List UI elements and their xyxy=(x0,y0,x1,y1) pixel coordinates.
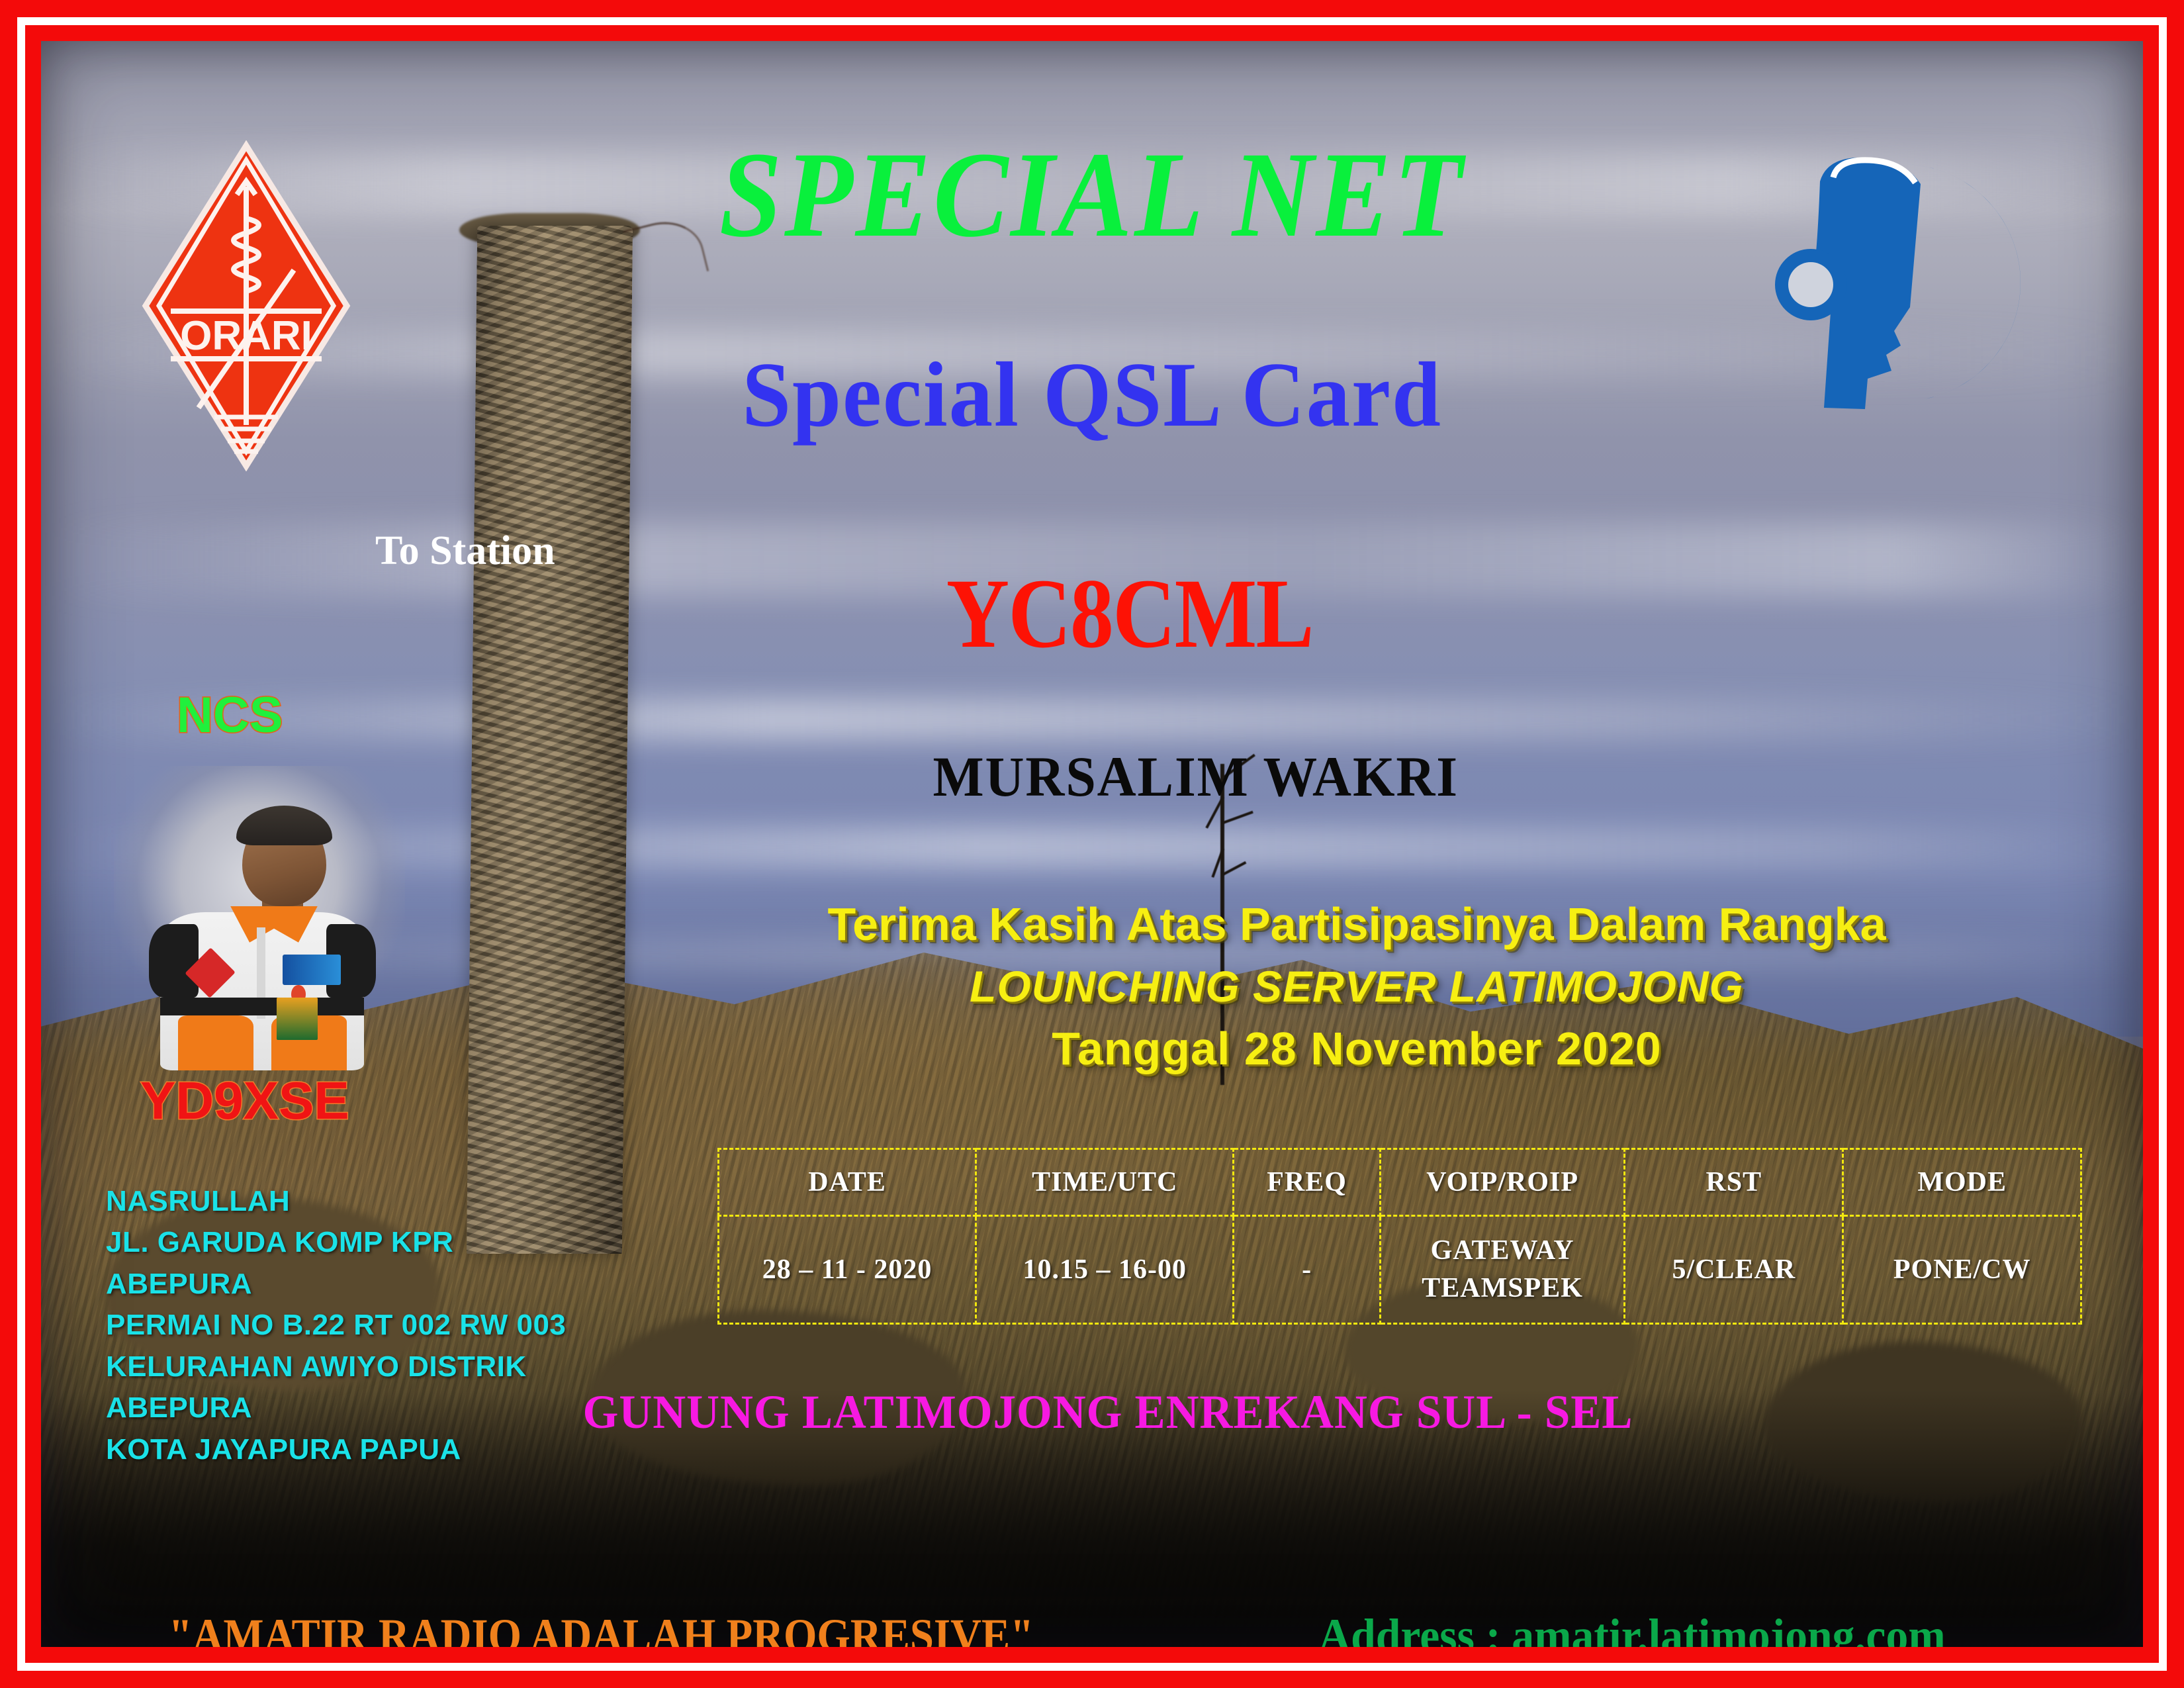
cell-date: 28 – 11 - 2020 xyxy=(719,1216,976,1324)
ncs-callsign: YD9XSE xyxy=(140,1070,349,1131)
card-overlay: ORARI xyxy=(41,41,2143,1647)
qso-log-table: DATE TIME/UTC FREQ VOIP/ROIP RST MODE 28… xyxy=(717,1148,2082,1325)
event-line-2: LOUNCHING SERVER LATIMOJONG xyxy=(690,959,2024,1014)
portrait-id-card xyxy=(277,998,318,1040)
table-header-row: DATE TIME/UTC FREQ VOIP/ROIP RST MODE xyxy=(719,1149,2081,1216)
qsl-card-inner-frame: ORARI xyxy=(25,25,2159,1663)
cell-voip: GATEWAY TEAMSPEK xyxy=(1380,1216,1624,1324)
qsl-card-outer-frame: ORARI xyxy=(0,0,2184,1688)
col-header-mode: MODE xyxy=(1843,1149,2081,1216)
portrait-badge-right xyxy=(283,955,341,985)
portrait-shoulder-left xyxy=(149,924,199,997)
ncs-operator-photo xyxy=(114,766,405,1070)
page-title: SPECIAL NET xyxy=(125,134,2059,256)
cell-voip-line-2: TEAMSPEK xyxy=(1385,1270,1619,1307)
event-text-block: Terima Kasih Atas Partisipasinya Dalam R… xyxy=(690,895,2024,1079)
portrait-hem-left xyxy=(178,1015,253,1070)
cell-voip-line-1: GATEWAY xyxy=(1385,1232,1619,1270)
portrait-stripe xyxy=(160,998,364,1016)
contact-address-block: NASRULLAH JL. GARUDA KOMP KPR ABEPURA PE… xyxy=(106,1181,566,1470)
footer-address: Address : amatir.latimojong.com xyxy=(1318,1609,1945,1647)
col-header-time: TIME/UTC xyxy=(976,1149,1234,1216)
cell-freq: - xyxy=(1234,1216,1381,1324)
table-row: 28 – 11 - 2020 10.15 – 16-00 - GATEWAY T… xyxy=(719,1216,2081,1324)
cell-time: 10.15 – 16-00 xyxy=(976,1216,1234,1324)
qsl-card-white-gap: ORARI xyxy=(17,17,2167,1671)
footer-slogan: "AMATIR RADIO ADALAH PROGRESIVE" xyxy=(169,1609,1034,1647)
background-photograph: ORARI xyxy=(41,41,2143,1647)
contact-line: NASRULLAH xyxy=(106,1181,566,1222)
page-subtitle: Special QSL Card xyxy=(93,349,2090,442)
event-line-3: Tanggal 28 November 2020 xyxy=(690,1019,2024,1079)
contact-line: KELURAHAN AWIYO DISTRIK xyxy=(106,1346,566,1387)
contact-line: PERMAI NO B.22 RT 002 RW 003 xyxy=(106,1305,566,1346)
to-station-label: To Station xyxy=(375,528,555,575)
station-callsign: YC8CML xyxy=(946,564,1313,663)
contact-line: JL. GARUDA KOMP KPR xyxy=(106,1222,566,1263)
contact-line: ABEPURA xyxy=(106,1387,566,1429)
col-header-freq: FREQ xyxy=(1234,1149,1381,1216)
col-header-voip: VOIP/ROIP xyxy=(1380,1149,1624,1216)
event-line-1: Terima Kasih Atas Partisipasinya Dalam R… xyxy=(690,895,2024,955)
col-header-date: DATE xyxy=(719,1149,976,1216)
ncs-label: NCS xyxy=(177,686,283,744)
cell-rst: 5/CLEAR xyxy=(1625,1216,1843,1324)
cell-mode: PONE/CW xyxy=(1843,1216,2081,1324)
contact-line: ABEPURA xyxy=(106,1264,566,1305)
col-header-rst: RST xyxy=(1625,1149,1843,1216)
contact-line: KOTA JAYAPURA PAPUA xyxy=(106,1429,566,1470)
